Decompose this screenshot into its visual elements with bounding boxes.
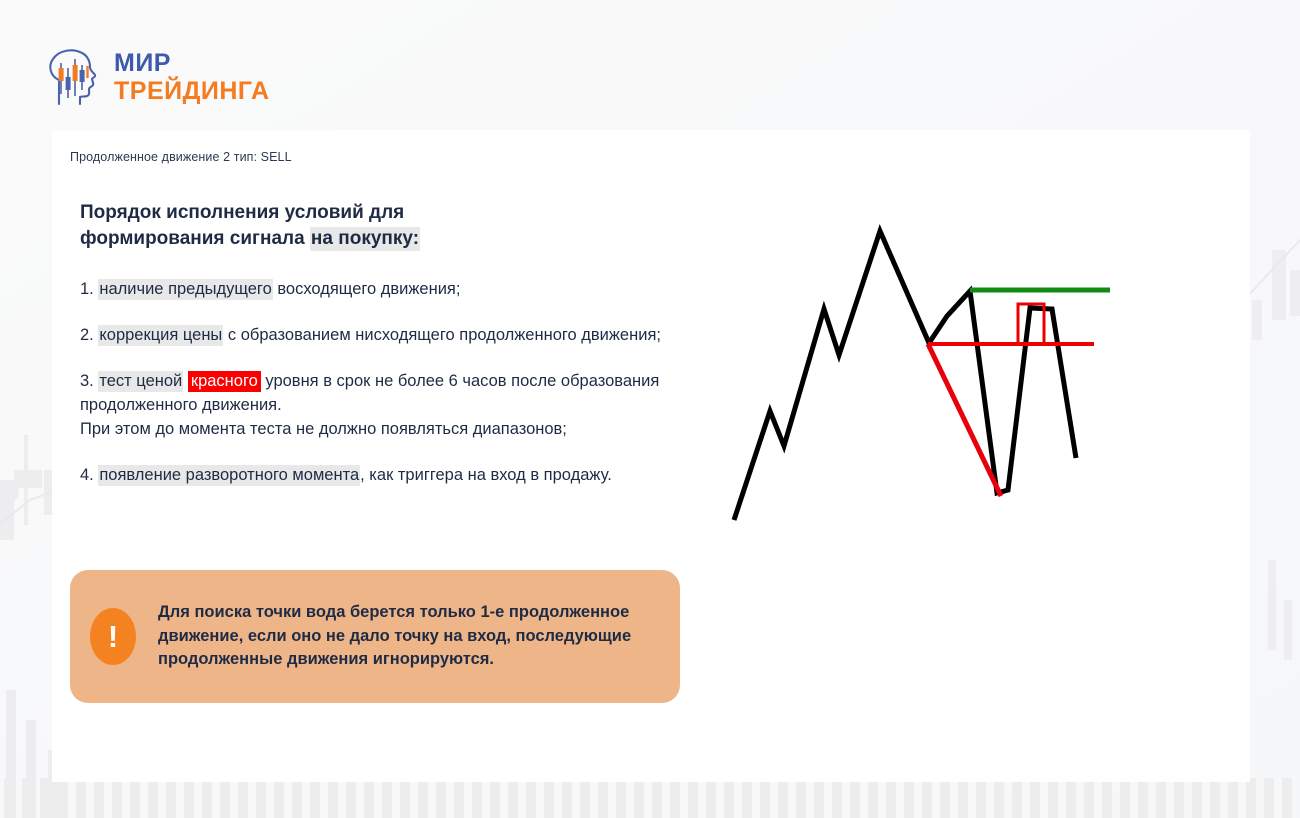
step-3-part-4: При этом до момента теста не должно появ… xyxy=(80,420,567,438)
step-2-number: 2. xyxy=(80,326,94,344)
step-4-part-2: , как триггера на вход в продажу. xyxy=(360,466,612,484)
step-3-part-1: тест ценой xyxy=(98,371,183,392)
slide-text-column: Продолженное движение 2 тип: SELL Порядо… xyxy=(70,150,710,514)
brand-line-2: ТРЕЙДИНГА xyxy=(114,79,270,104)
head-candlestick-logo-icon xyxy=(42,46,102,108)
right-decoration-group xyxy=(1252,250,1300,660)
step-2-part-2: с образованием нисходящего продолженного… xyxy=(223,326,661,344)
brand-wordmark: МИР ТРЕЙДИНГА xyxy=(114,51,270,104)
step-item-2: 2. коррекция цены с образованием нисходя… xyxy=(80,324,690,348)
slide-card: Продолженное движение 2 тип: SELL Порядо… xyxy=(52,130,1250,782)
brand-line-1: МИР xyxy=(114,51,270,76)
headline-line-1: Порядок исполнения условий для xyxy=(80,202,404,223)
step-item-3: 3. тест ценой красного уровня в срок не … xyxy=(80,370,690,442)
bottom-bar-strip xyxy=(0,778,1300,818)
exclamation-icon: ! xyxy=(90,608,136,665)
step-item-4: 4. появление разворотного момента, как т… xyxy=(80,464,690,488)
red-trend-line xyxy=(928,344,1001,496)
price-path-line xyxy=(734,231,1076,520)
step-3-red-keyword: красного xyxy=(188,371,261,392)
slide-kicker: Продолженное движение 2 тип: SELL xyxy=(70,150,710,164)
step-1-part-1: наличие предыдущего xyxy=(98,279,272,300)
headline-line-2-highlight: на покупку: xyxy=(310,227,420,251)
info-callout: ! Для поиска точки вода берется только 1… xyxy=(70,570,680,703)
page-title: Порядок исполнения условий для формирова… xyxy=(80,200,500,252)
step-4-part-1: появление разворотного момента xyxy=(98,465,360,486)
brand-logo: МИР ТРЕЙДИНГА xyxy=(42,44,270,110)
price-action-diagram xyxy=(712,218,1142,548)
info-callout-text: Для поиска точки вода берется только 1-е… xyxy=(158,601,658,673)
step-1-number: 1. xyxy=(80,280,94,298)
step-1-part-2: восходящего движения; xyxy=(273,280,461,298)
step-3-number: 3. xyxy=(80,372,94,390)
headline-line-2-plain: формирования сигнала xyxy=(80,228,310,249)
step-4-number: 4. xyxy=(80,466,94,484)
step-2-part-1: коррекция цены xyxy=(98,325,223,346)
step-item-1: 1. наличие предыдущего восходящего движе… xyxy=(80,278,690,302)
